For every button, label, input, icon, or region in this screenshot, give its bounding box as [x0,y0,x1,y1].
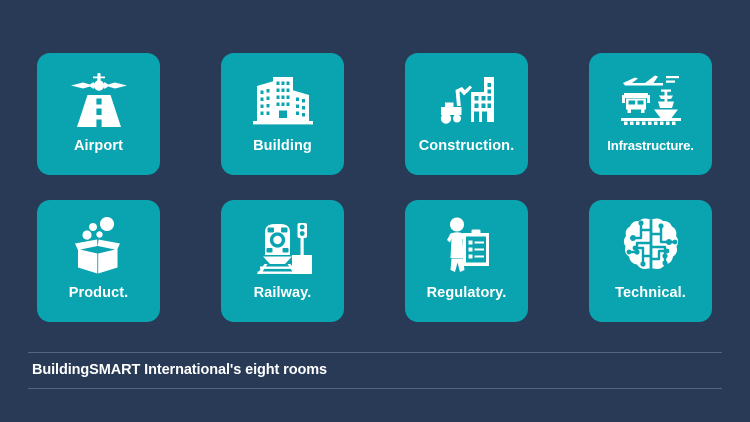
rooms-tile-grid: Airport Building [37,53,713,322]
tile-technical[interactable]: Technical. [589,200,712,322]
caption-rule-bottom [28,388,722,389]
excavator-building-icon [431,65,503,131]
tile-railway[interactable]: Railway. [221,200,344,322]
tile-label: Regulatory. [427,286,507,301]
inspector-clipboard-icon [431,212,503,278]
caption-block: BuildingSMART International's eight room… [28,352,722,389]
tile-label: Infrastructure. [607,139,693,152]
tile-regulatory[interactable]: Regulatory. [405,200,528,322]
office-buildings-icon [247,65,319,131]
multimodal-transport-icon [615,65,687,131]
tile-label: Product. [69,286,129,301]
tile-label: Railway. [254,286,312,301]
circuit-brain-icon [615,212,687,278]
tile-label: Building [253,139,312,154]
tile-construction[interactable]: Construction. [405,53,528,175]
open-box-icon [63,212,135,278]
tile-product[interactable]: Product. [37,200,160,322]
tile-building[interactable]: Building [221,53,344,175]
tile-airport[interactable]: Airport [37,53,160,175]
slide-canvas: Airport Building [0,0,750,422]
airplane-runway-icon [63,65,135,131]
caption-text: BuildingSMART International's eight room… [28,353,722,388]
tile-infrastructure[interactable]: Infrastructure. [589,53,712,175]
tile-label: Construction. [419,139,515,154]
tile-label: Technical. [615,286,686,301]
train-signal-icon [247,212,319,278]
tile-label: Airport [74,139,123,154]
